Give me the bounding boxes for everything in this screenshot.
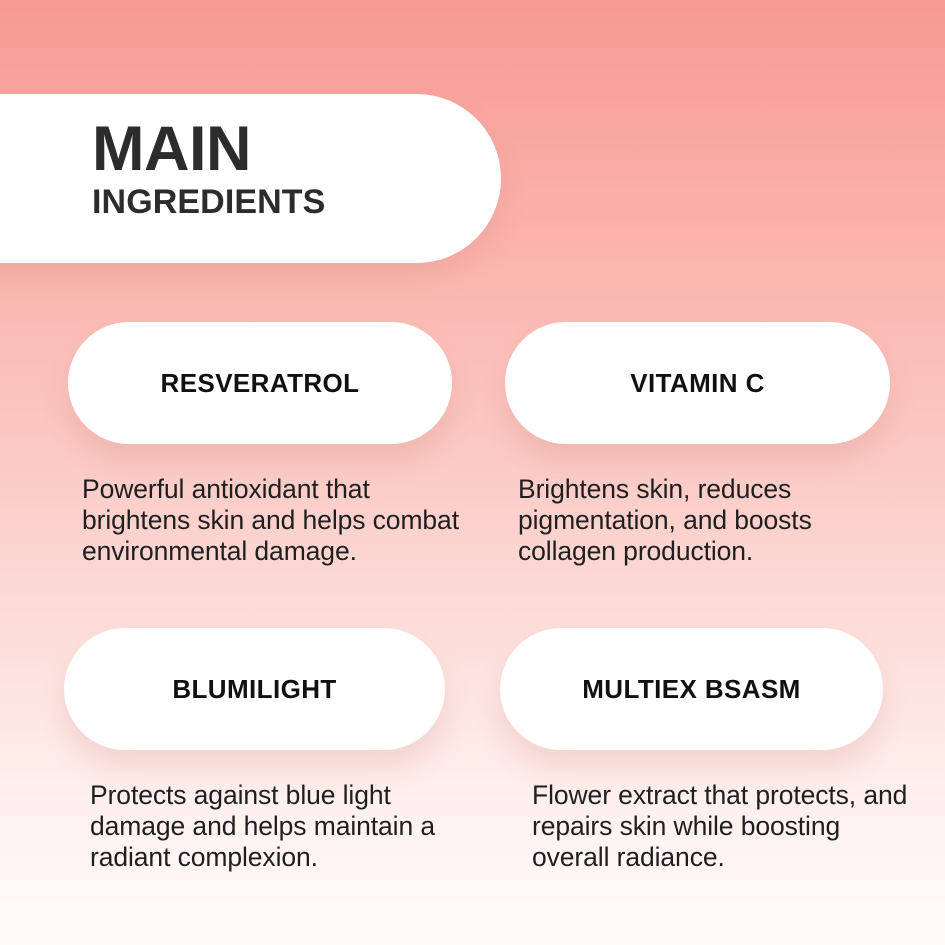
ingredient-description: Protects against blue light damage and h… [90,780,470,873]
page-title: MAIN INGREDIENTS [92,118,325,224]
ingredient-card-vitamin-c: VITAMIN C Brightens skin, reduces pigmen… [505,322,890,567]
header-pill: MAIN INGREDIENTS [0,94,501,263]
page-title-line-2: INGREDIENTS [92,180,325,224]
ingredient-card-resveratrol: RESVERATROL Powerful antioxidant that br… [68,322,452,567]
ingredient-name: RESVERATROL [161,368,360,399]
ingredient-description: Powerful antioxidant that brightens skin… [82,474,462,567]
ingredient-pill[interactable]: RESVERATROL [68,322,452,444]
ingredient-description: Brightens skin, reduces pigmentation, an… [518,474,898,567]
ingredient-name: BLUMILIGHT [172,674,336,705]
ingredient-description: Flower extract that protects, and repair… [532,780,912,873]
ingredient-pill[interactable]: BLUMILIGHT [64,628,445,750]
page-title-line-1: MAIN [92,118,325,180]
main-ingredients-poster: MAIN INGREDIENTS RESVERATROL Powerful an… [0,0,945,945]
ingredient-card-multiex-bsasm: MULTIEX BSASM Flower extract that protec… [500,628,883,873]
ingredient-pill[interactable]: VITAMIN C [505,322,890,444]
ingredient-card-blumilight: BLUMILIGHT Protects against blue light d… [64,628,445,873]
ingredient-name: MULTIEX BSASM [582,674,801,705]
ingredient-name: VITAMIN C [630,368,765,399]
ingredient-pill[interactable]: MULTIEX BSASM [500,628,883,750]
